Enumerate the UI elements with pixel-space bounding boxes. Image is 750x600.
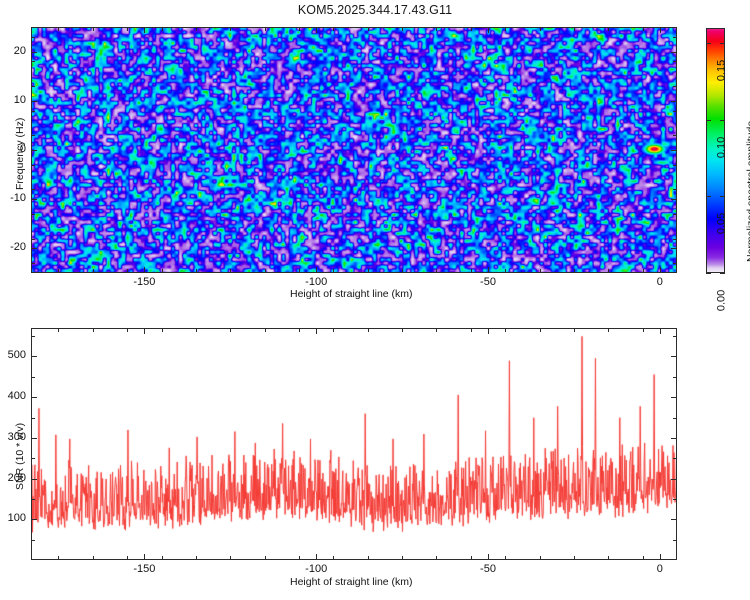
spec-xtick-major (488, 267, 489, 273)
spec-ytick-minor (31, 37, 35, 38)
spec-xticklabel: -150 (133, 276, 155, 288)
snr-ytick-major (31, 479, 37, 480)
spec-xtick-minor (265, 269, 266, 273)
snr-xtick-major-top (144, 328, 145, 334)
spec-xtick-minor (368, 269, 369, 273)
snr-xtick-major (316, 554, 317, 560)
snr-xticklabel: -150 (133, 563, 155, 575)
snr-xtick-minor (574, 556, 575, 560)
figure-title: KOM5.2025.344.17.43.G11 (0, 3, 750, 17)
snr-ytick-minor (31, 418, 35, 419)
snr-xticklabel: -100 (305, 563, 327, 575)
snr-xtick-minor-top (574, 328, 575, 332)
snr-xtick-major-top (488, 328, 489, 334)
snr-xtick-minor-top (643, 328, 644, 332)
spec-ytick-major (31, 199, 37, 200)
spec-ytick-minor-right (673, 111, 677, 112)
snr-ytick-minor-right (673, 540, 677, 541)
spec-xtick-minor (608, 269, 609, 273)
snr-xtick-minor-top (402, 328, 403, 332)
snr-xtick-minor-top (540, 328, 541, 332)
snr-ytick-major (31, 438, 37, 439)
snr-xticklabel: -50 (480, 563, 496, 575)
snr-xtick-major (488, 554, 489, 560)
colorbar-tick (706, 196, 711, 197)
spec-ytick-minor-right (673, 239, 677, 240)
snr-xtick-major-top (316, 328, 317, 334)
snr-xtick-minor (540, 556, 541, 560)
spec-ytick-minor-right (673, 135, 677, 136)
spec-xtick-minor-top (574, 27, 575, 31)
snr-yticklabel: 500 (8, 349, 26, 361)
spec-xtick-minor-top (196, 27, 197, 31)
colorbar-tick-right (720, 43, 725, 44)
colorbar-tick (706, 43, 711, 44)
spec-yticklabel: 20 (14, 45, 26, 57)
spec-ytick-minor (31, 165, 35, 166)
spectrogram-image (32, 28, 677, 273)
snr-xtick-minor (58, 556, 59, 560)
snr-xtick-minor-top (230, 328, 231, 332)
snr-xtick-minor-top (265, 328, 266, 332)
snr-xtick-minor-top (505, 328, 506, 332)
spec-ytick-major (31, 52, 37, 53)
spec-ytick-major (31, 150, 37, 151)
snr-xtick-minor (436, 556, 437, 560)
colorbar-label: Normalized spectral amplitude (745, 121, 750, 262)
spec-xticklabel: 0 (657, 276, 663, 288)
spec-ytick-minor (31, 263, 35, 264)
spec-xtick-minor (93, 269, 94, 273)
spec-xtick-minor-top (265, 27, 266, 31)
snr-panel (31, 328, 677, 560)
snr-ytick-minor-right (673, 336, 677, 337)
spec-xtick-minor-top (127, 27, 128, 31)
spec-ytick-minor (31, 189, 35, 190)
spec-ytick-minor (31, 86, 35, 87)
colorbar-ticklabel: 0.10 (715, 137, 727, 158)
spec-xtick-minor (402, 269, 403, 273)
figure-root: KOM5.2025.344.17.43.G11 Frequency (Hz) H… (0, 0, 750, 600)
colorbar-tick-right (720, 196, 725, 197)
spec-xtick-minor (471, 269, 472, 273)
snr-ytick-major (31, 519, 37, 520)
spec-xtick-minor-top (58, 27, 59, 31)
snr-xtick-major (660, 554, 661, 560)
snr-ytick-major-right (671, 479, 677, 480)
spec-ytick-major-right (671, 199, 677, 200)
spec-xtick-major-top (488, 27, 489, 33)
spec-ytick-minor-right (673, 189, 677, 190)
spec-xtick-minor (436, 269, 437, 273)
snr-xtick-minor (505, 556, 506, 560)
colorbar-ticklabel: 0.05 (715, 213, 727, 234)
snr-xtick-minor (162, 556, 163, 560)
snr-xtick-minor-top (368, 328, 369, 332)
spec-xtick-minor-top (162, 27, 163, 31)
snr-ytick-minor (31, 377, 35, 378)
snr-xtick-minor-top (299, 328, 300, 332)
snr-xlabel: Height of straight line (km) (290, 576, 413, 588)
snr-trace (32, 329, 677, 560)
snr-ytick-major-right (671, 356, 677, 357)
spec-xtick-major-top (144, 27, 145, 33)
spec-xtick-minor-top (471, 27, 472, 31)
snr-xtick-minor (402, 556, 403, 560)
snr-xtick-minor (643, 556, 644, 560)
snr-ytick-major (31, 397, 37, 398)
spec-xtick-minor (58, 269, 59, 273)
spec-ytick-major-right (671, 52, 677, 53)
spec-xtick-minor (643, 269, 644, 273)
spec-ytick-minor (31, 135, 35, 136)
spec-xticklabel: -100 (305, 276, 327, 288)
spec-xtick-minor-top (505, 27, 506, 31)
spec-ytick-minor (31, 214, 35, 215)
snr-xtick-minor (471, 556, 472, 560)
snr-xtick-minor-top (127, 328, 128, 332)
spec-ytick-minor-right (673, 86, 677, 87)
snr-xtick-minor-top (58, 328, 59, 332)
spec-xtick-minor-top (608, 27, 609, 31)
spec-xtick-minor-top (299, 27, 300, 31)
snr-ytick-minor (31, 336, 35, 337)
snr-xtick-minor (265, 556, 266, 560)
spec-yticklabel: -10 (10, 192, 26, 204)
snr-xtick-minor (299, 556, 300, 560)
spec-xtick-minor (574, 269, 575, 273)
snr-xtick-minor-top (162, 328, 163, 332)
snr-yticklabel: 200 (8, 472, 26, 484)
spec-xtick-minor-top (436, 27, 437, 31)
spec-xtick-minor (540, 269, 541, 273)
snr-xtick-minor (93, 556, 94, 560)
snr-ytick-minor-right (673, 377, 677, 378)
spec-ytick-minor-right (673, 37, 677, 38)
spec-ytick-major-right (671, 248, 677, 249)
spec-xtick-minor (505, 269, 506, 273)
snr-ytick-minor-right (673, 458, 677, 459)
spec-ytick-minor (31, 61, 35, 62)
spec-xtick-minor-top (368, 27, 369, 31)
spec-xtick-minor (299, 269, 300, 273)
colorbar-ticklabel: 0.00 (715, 290, 727, 311)
snr-ytick-major (31, 356, 37, 357)
snr-xtick-minor-top (608, 328, 609, 332)
spec-ytick-minor-right (673, 61, 677, 62)
spec-xtick-minor-top (230, 27, 231, 31)
snr-ytick-minor-right (673, 499, 677, 500)
snr-xtick-minor (196, 556, 197, 560)
snr-ytick-minor-right (673, 418, 677, 419)
snr-xticklabel: 0 (657, 563, 663, 575)
snr-xtick-minor (127, 556, 128, 560)
spec-xtick-major-top (660, 27, 661, 33)
snr-ytick-minor (31, 499, 35, 500)
colorbar-tick (706, 120, 711, 121)
snr-xtick-minor-top (93, 328, 94, 332)
snr-xtick-minor-top (333, 328, 334, 332)
spectrogram-panel (31, 27, 677, 273)
spec-ytick-minor-right (673, 263, 677, 264)
snr-xtick-minor (333, 556, 334, 560)
spec-xtick-minor-top (402, 27, 403, 31)
snr-ytick-major-right (671, 519, 677, 520)
spec-ytick-major-right (671, 101, 677, 102)
colorbar-ticklabel: 0.15 (715, 60, 727, 81)
spec-xtick-major (316, 267, 317, 273)
snr-xtick-minor-top (436, 328, 437, 332)
spec-xtick-minor (230, 269, 231, 273)
snr-yticklabel: 100 (8, 512, 26, 524)
colorbar-tick-right (720, 120, 725, 121)
spec-ytick-major (31, 101, 37, 102)
snr-xtick-minor (230, 556, 231, 560)
snr-xtick-minor (368, 556, 369, 560)
spec-ytick-major-right (671, 150, 677, 151)
spec-ytick-minor-right (673, 165, 677, 166)
spec-xtick-major-top (316, 27, 317, 33)
spec-ytick-minor (31, 111, 35, 112)
snr-xtick-minor (608, 556, 609, 560)
colorbar-tick-right (720, 273, 725, 274)
snr-ytick-minor (31, 540, 35, 541)
spec-xticklabel: -50 (480, 276, 496, 288)
spec-yticklabel: 0 (20, 143, 26, 155)
snr-ytick-major-right (671, 438, 677, 439)
snr-yticklabel: 400 (8, 390, 26, 402)
spec-xtick-minor (162, 269, 163, 273)
spec-ytick-minor (31, 239, 35, 240)
spec-xtick-minor-top (333, 27, 334, 31)
spec-xtick-minor-top (540, 27, 541, 31)
snr-xtick-minor-top (471, 328, 472, 332)
spec-xtick-minor-top (93, 27, 94, 31)
spec-yticklabel: 10 (14, 94, 26, 106)
spec-xtick-major (660, 267, 661, 273)
spec-xtick-minor (196, 269, 197, 273)
spec-ytick-major (31, 248, 37, 249)
snr-xtick-major-top (660, 328, 661, 334)
snr-yticklabel: 300 (8, 431, 26, 443)
spec-xtick-major (144, 267, 145, 273)
spectrogram-xlabel: Height of straight line (km) (290, 288, 413, 300)
spec-xtick-minor-top (643, 27, 644, 31)
colorbar-tick (706, 273, 711, 274)
snr-ytick-major-right (671, 397, 677, 398)
spec-xtick-minor (127, 269, 128, 273)
snr-xtick-minor-top (196, 328, 197, 332)
snr-ytick-minor (31, 458, 35, 459)
snr-xtick-major (144, 554, 145, 560)
spec-ytick-minor-right (673, 214, 677, 215)
spec-xtick-minor (333, 269, 334, 273)
spec-yticklabel: -20 (10, 241, 26, 253)
